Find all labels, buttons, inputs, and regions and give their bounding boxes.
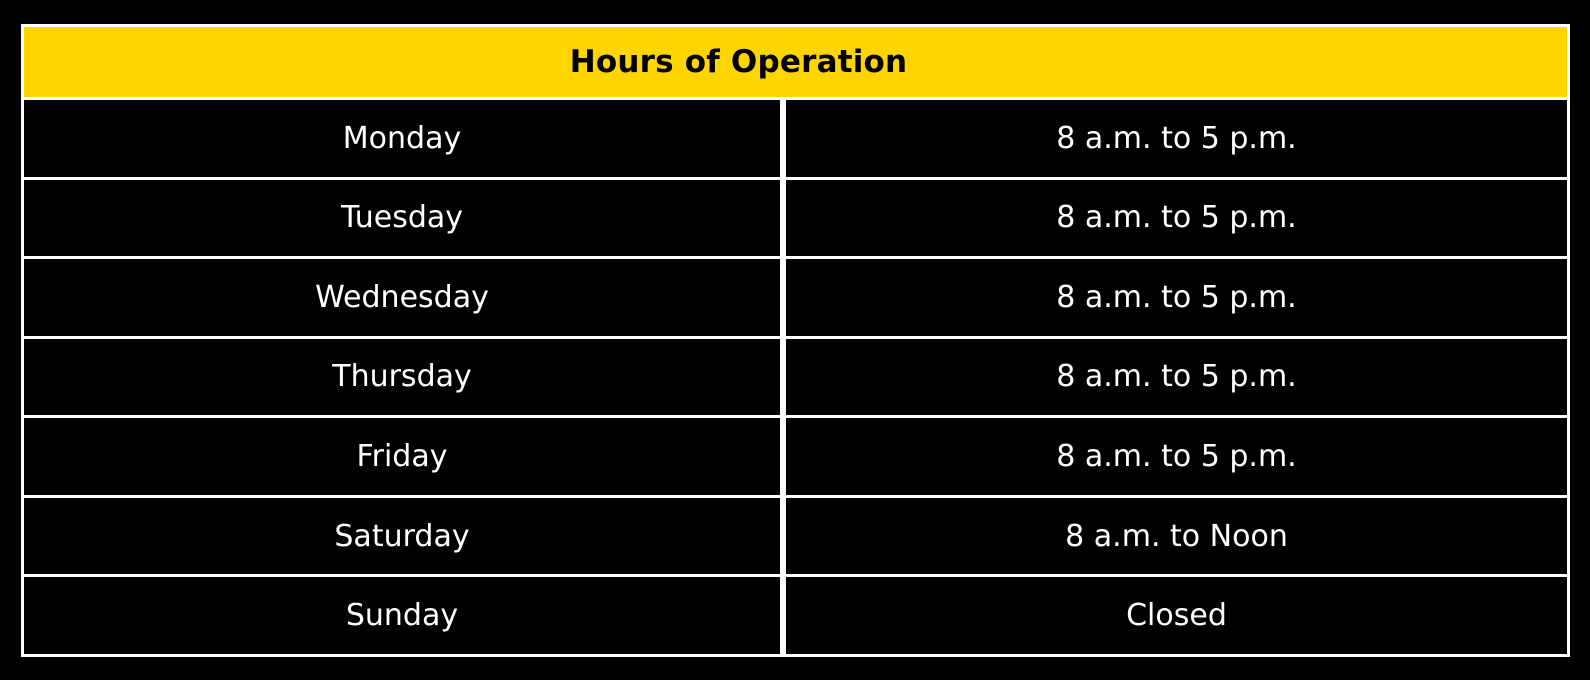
table-row: Friday 8 a.m. to 5 p.m. (21, 418, 1570, 498)
day-label: Wednesday (21, 259, 783, 339)
hours-value: 8 a.m. to 5 p.m. (783, 418, 1570, 498)
table-header: Hours of Operation (21, 24, 1570, 100)
table-body: Monday 8 a.m. to 5 p.m. Tuesday 8 a.m. t… (21, 100, 1570, 657)
day-label: Friday (21, 418, 783, 498)
day-label: Sunday (21, 577, 783, 657)
hours-value: Closed (783, 577, 1570, 657)
table-row: Tuesday 8 a.m. to 5 p.m. (21, 180, 1570, 260)
table-row: Wednesday 8 a.m. to 5 p.m. (21, 259, 1570, 339)
table-row: Thursday 8 a.m. to 5 p.m. (21, 339, 1570, 419)
day-label: Saturday (21, 498, 783, 578)
day-label: Thursday (21, 339, 783, 419)
hours-value: 8 a.m. to 5 p.m. (783, 180, 1570, 260)
hours-value: 8 a.m. to 5 p.m. (783, 339, 1570, 419)
table-row: Saturday 8 a.m. to Noon (21, 498, 1570, 578)
day-label: Tuesday (21, 180, 783, 260)
table-row: Monday 8 a.m. to 5 p.m. (21, 100, 1570, 180)
page-canvas: Hours of Operation Monday 8 a.m. to 5 p.… (0, 0, 1590, 680)
hours-value: 8 a.m. to 5 p.m. (783, 259, 1570, 339)
hours-of-operation-table: Hours of Operation Monday 8 a.m. to 5 p.… (21, 24, 1570, 657)
page-title: Hours of Operation (570, 44, 908, 80)
hours-value: 8 a.m. to 5 p.m. (783, 100, 1570, 180)
table-row: Sunday Closed (21, 577, 1570, 657)
day-label: Monday (21, 100, 783, 180)
table-title-row: Hours of Operation (21, 24, 1570, 100)
table-title-cell: Hours of Operation (21, 24, 1570, 100)
hours-value: 8 a.m. to Noon (783, 498, 1570, 578)
